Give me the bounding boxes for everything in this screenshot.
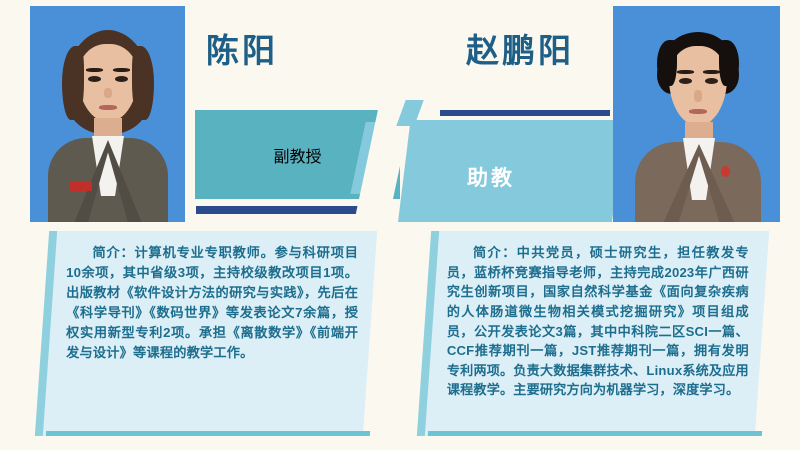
portrait-eye-right [115, 76, 128, 82]
bio-card-underline-left [46, 431, 370, 436]
portrait-brow-right [113, 68, 130, 72]
portrait-nose [104, 88, 112, 98]
portrait-hair-right [719, 40, 739, 86]
portrait-brow-left [677, 70, 694, 74]
navy-accent-bar-left [196, 206, 381, 214]
profile-title-2: 助教 [467, 162, 515, 192]
bio-card-underline-right [428, 431, 762, 436]
profile-name-2: 赵鹏阳 [466, 24, 574, 72]
bio-card-1: 简介：计算机专业专职教师。参与科研项目10余项，其中省级3项，主持校级教改项目1… [43, 231, 377, 436]
portrait-badge [721, 166, 730, 177]
portrait-brow-right [703, 70, 720, 74]
profiles-header-section: 陈阳 副教授 助教 赵鹏阳 [0, 0, 800, 225]
profile-photo-chen-yang [30, 6, 185, 222]
profiles-bio-section: 简介：计算机专业专职教师。参与科研项目10余项，其中省级3项，主持校级教改项目1… [0, 225, 800, 450]
slide-canvas: 陈阳 副教授 助教 赵鹏阳 [0, 0, 800, 450]
profile-title-band-2-inner: 助教 [398, 120, 612, 222]
portrait-hair-left [657, 40, 677, 86]
portrait-mouth [689, 109, 707, 114]
profile-photo-zhao-pengyang [613, 6, 780, 222]
navy-accent-bar-right [440, 110, 610, 116]
portrait-mouth [99, 105, 117, 110]
portrait-eye-left [88, 76, 101, 82]
portrait-nose [694, 90, 702, 102]
portrait-brow-left [86, 68, 103, 72]
profile-title-1: 副教授 [273, 143, 321, 167]
portrait-hair-left [62, 46, 84, 120]
profile-name-1: 陈阳 [206, 24, 278, 72]
bio-text-2: 简介：中共党员，硕士研究生，担任教发专员，蓝桥杯竞赛指导老师，主持完成2023年… [447, 243, 749, 400]
portrait-eye-left [679, 78, 692, 84]
page-bottom-bar [0, 441, 800, 450]
portrait-eye-right [705, 78, 718, 84]
portrait-badge [70, 182, 92, 191]
bio-text-1: 简介：计算机专业专职教师。参与科研项目10余项，其中省级3项，主持校级教改项目1… [66, 243, 358, 363]
bio-card-2: 简介：中共党员，硕士研究生，担任教发专员，蓝桥杯竞赛指导老师，主持完成2023年… [425, 231, 769, 436]
